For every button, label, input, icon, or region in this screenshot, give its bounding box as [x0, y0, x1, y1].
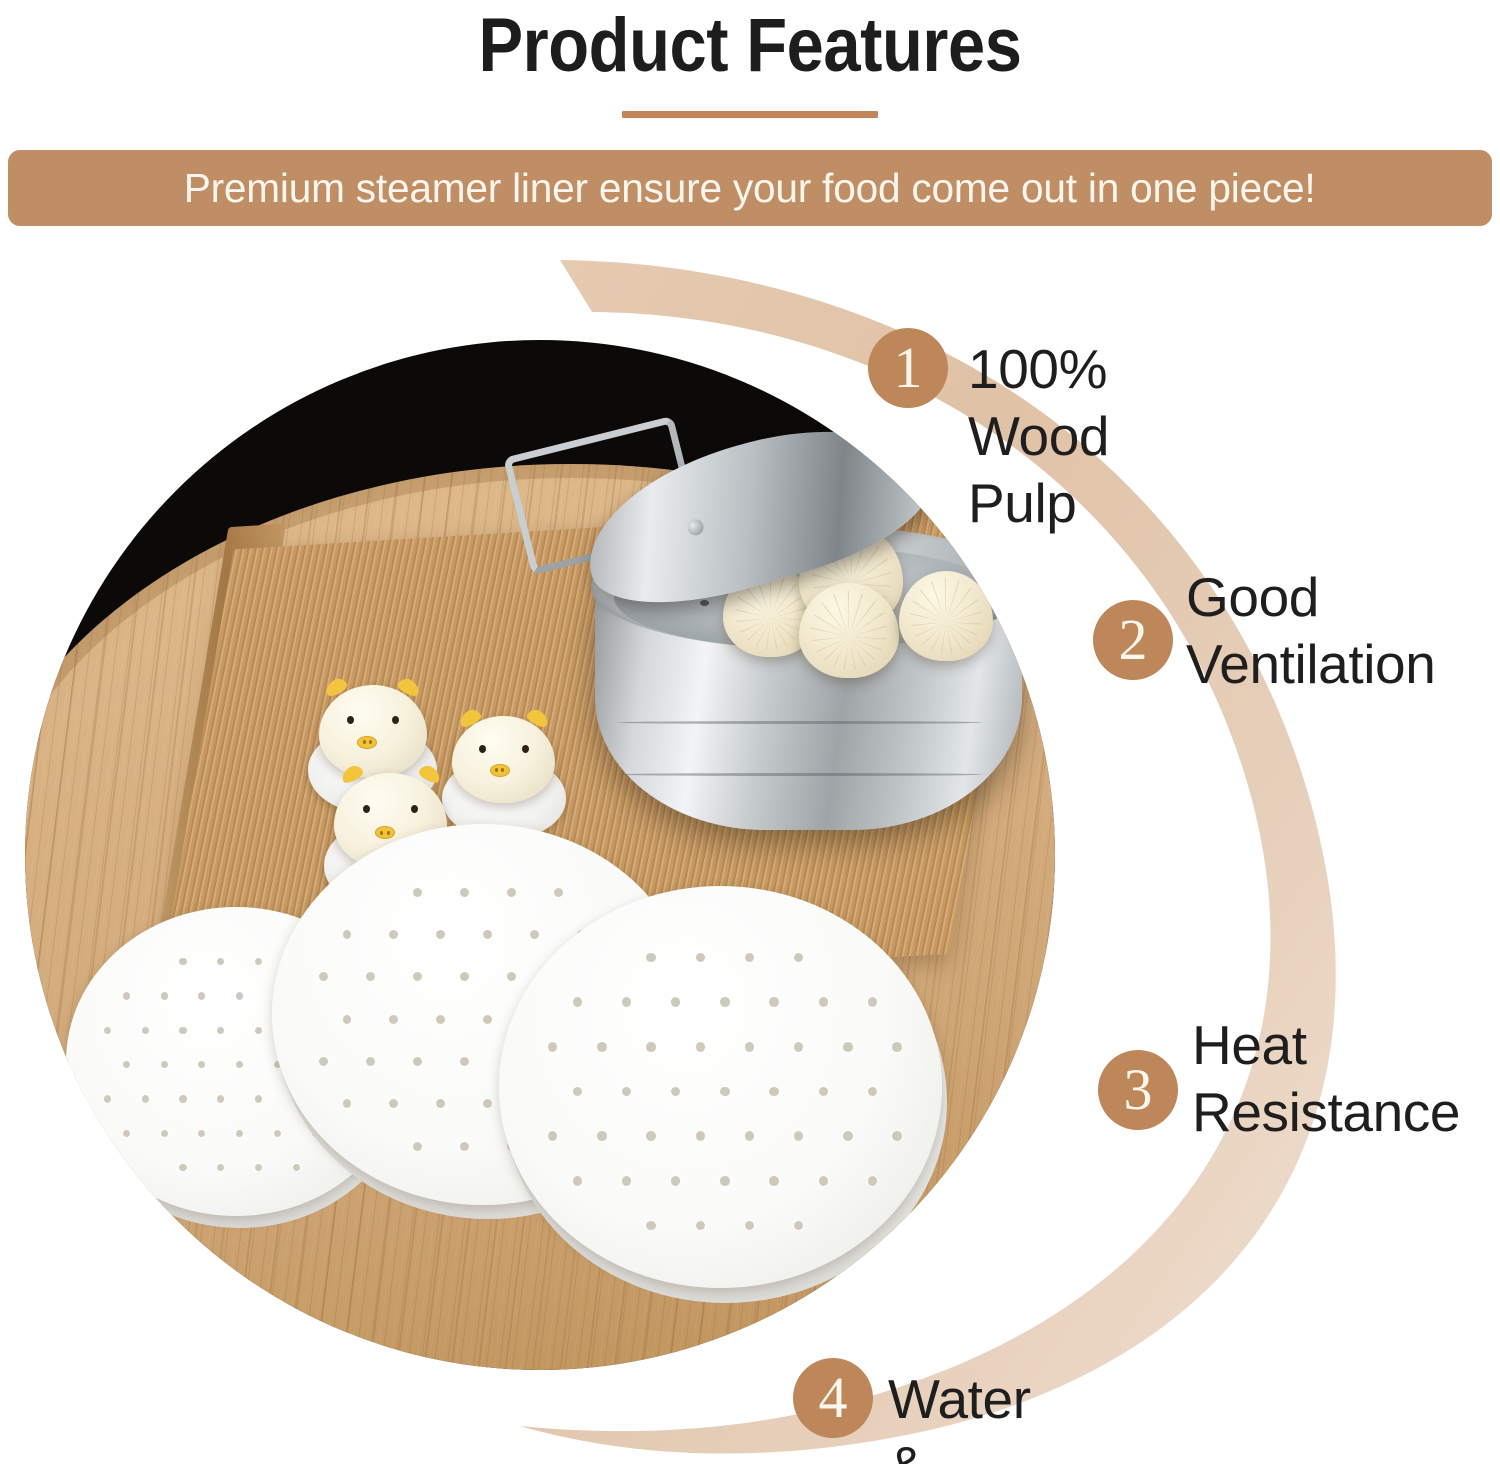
feature-label-2: Good Ventilation	[1186, 564, 1435, 698]
liner-perforation-hole	[319, 1057, 328, 1066]
liner-perforation-hole	[389, 1099, 398, 1108]
liner-perforation-hole	[720, 1087, 729, 1097]
liner-perforation-hole	[255, 1095, 262, 1102]
liner-perforation-hole	[217, 1095, 224, 1102]
liner-perforation-hole	[460, 888, 469, 897]
pig-nose	[357, 736, 377, 749]
liner-perforation-hole	[794, 953, 803, 963]
page-title: Product Features	[90, 2, 1410, 89]
liner-perforation-hole	[696, 1131, 705, 1141]
liner-perforation-hole	[236, 1061, 243, 1068]
liner-perforation-hole	[460, 1057, 469, 1066]
liner-perforation-hole	[671, 997, 680, 1007]
liner-perforation-hole	[573, 1176, 582, 1186]
liner-perforation-hole	[819, 997, 828, 1007]
liner-perforation-hole	[255, 1164, 262, 1171]
liner-perforation-hole	[794, 1221, 803, 1231]
feature-number-badge-3: 3	[1098, 1050, 1178, 1130]
liner-perforation-hole	[460, 1142, 469, 1151]
liner-perforation-hole	[573, 1087, 582, 1097]
pig-eye	[411, 805, 418, 813]
liner-perforation-hole	[161, 992, 168, 999]
pig-eye	[522, 745, 529, 753]
liner-perforation-hole	[843, 1131, 852, 1141]
liner-perforation-hole	[597, 1131, 606, 1141]
steamed-bun	[799, 583, 898, 678]
title-divider	[622, 111, 878, 118]
liner-perforation-hole	[436, 1015, 445, 1024]
liner-perforation-hole	[696, 1042, 705, 1052]
product-photo	[25, 340, 1055, 1370]
liner-perforation-hole	[198, 1130, 205, 1137]
liner-perforation-hole	[646, 1221, 655, 1231]
liner-perforation-hole	[483, 1099, 492, 1108]
liner-perforation-hole	[236, 1130, 243, 1137]
liner-perforation-hole	[720, 1176, 729, 1186]
liner-perforation-hole	[217, 958, 224, 965]
liner-perforation-hole	[104, 1027, 111, 1034]
pig-bun	[452, 716, 555, 804]
liner-perforation-hole	[413, 972, 422, 981]
pig-eye	[479, 745, 486, 753]
feature-label-4: Water & Grease Proof	[888, 1366, 1066, 1464]
liner-perforation-hole	[217, 1164, 224, 1171]
liner-perforation-hole	[255, 1027, 262, 1034]
liner-perforation-hole	[123, 992, 130, 999]
liner-perforation-hole	[179, 1164, 186, 1171]
liner-perforation-hole	[548, 1131, 557, 1141]
liner-perforation-hole	[413, 888, 422, 897]
liner-perforation-hole	[142, 1095, 149, 1102]
product-features-infographic: Product Features Premium steamer liner e…	[0, 0, 1500, 1464]
liner-perforation-hole	[142, 1027, 149, 1034]
pot-lid-knob	[686, 517, 706, 537]
liner-perforation-hole	[483, 1015, 492, 1024]
liner-perforation-hole	[892, 1042, 901, 1052]
liner-perforation-hole	[483, 930, 492, 939]
liner-perforation-hole	[794, 1042, 803, 1052]
liner-perforation-hole	[622, 997, 631, 1007]
feature-number-badge-2: 2	[1093, 600, 1173, 680]
liner-perforation-hole	[413, 1142, 422, 1151]
pig-bun	[319, 685, 427, 778]
liner-perforation-hole	[389, 1015, 398, 1024]
liner-perforation-hole	[104, 1095, 111, 1102]
liner-perforation-hole	[769, 997, 778, 1007]
subtitle-banner: Premium steamer liner ensure your food c…	[8, 150, 1492, 226]
liner-hole	[700, 600, 709, 606]
liner-perforation-hole	[179, 1027, 186, 1034]
liner-perforation-hole	[868, 1087, 877, 1097]
liner-perforation-hole	[745, 1221, 754, 1231]
pig-eye	[363, 805, 370, 813]
pig-eye	[347, 716, 354, 724]
liner-perforation-hole	[843, 1042, 852, 1052]
liner-perforation-hole	[436, 1099, 445, 1108]
liner-perforation-hole	[745, 953, 754, 963]
pig-eye	[392, 716, 399, 724]
liner-perforation-hole	[343, 1099, 352, 1108]
liner-perforation-hole	[622, 1176, 631, 1186]
liner-perforation-hole	[745, 1042, 754, 1052]
infographic-stage: 1 100% Wood Pulp 2 Good Ventilation 3 He…	[0, 240, 1500, 1464]
liner-perforation-hole	[868, 1176, 877, 1186]
liner-perforation-hole	[622, 1087, 631, 1097]
liner-perforation-hole	[646, 1042, 655, 1052]
liner-perforation-hole	[198, 1061, 205, 1068]
subtitle-banner-text: Premium steamer liner ensure your food c…	[184, 165, 1316, 212]
feature-label-1: 100% Wood Pulp	[968, 336, 1109, 537]
feature-number-badge-1: 1	[868, 328, 948, 408]
liner-perforation-hole	[548, 1042, 557, 1052]
liner-sheet-top	[499, 886, 942, 1288]
liner-perforation-hole	[745, 1131, 754, 1141]
pig-nose	[490, 764, 510, 777]
liner-perforation-hole	[769, 1087, 778, 1097]
liner-perforation-hole	[236, 992, 243, 999]
liner-perforation-hole	[123, 1061, 130, 1068]
liner-perforation-hole	[319, 972, 328, 981]
liner-perforation-hole	[868, 997, 877, 1007]
liner-perforation-hole	[436, 930, 445, 939]
liner-perforation-hole	[671, 1176, 680, 1186]
liner-perforation-hole	[892, 1131, 901, 1141]
liner-perforation-hole	[366, 1057, 375, 1066]
liner-perforation-hole	[123, 1130, 130, 1137]
liner-perforation-hole	[597, 1042, 606, 1052]
liner-perforation-hole	[573, 997, 582, 1007]
liner-perforation-hole	[819, 1087, 828, 1097]
liner-perforation-hole	[161, 1061, 168, 1068]
liner-perforation-hole	[671, 1087, 680, 1097]
liner-perforation-hole	[769, 1176, 778, 1186]
liner-perforation-hole	[819, 1176, 828, 1186]
pot-band	[617, 773, 984, 776]
liner-perforation-hole	[646, 953, 655, 963]
liner-perforation-hole	[366, 972, 375, 981]
liner-perforation-hole	[389, 930, 398, 939]
liner-perforation-hole	[720, 997, 729, 1007]
feature-label-3: Heat Resistance	[1192, 1012, 1460, 1146]
liner-perforation-hole	[255, 958, 262, 965]
liner-stack-right	[499, 886, 942, 1288]
liner-perforation-hole	[794, 1131, 803, 1141]
feature-number-badge-4: 4	[793, 1358, 873, 1438]
liner-perforation-hole	[343, 1015, 352, 1024]
liner-perforation-hole	[413, 1057, 422, 1066]
liner-perforation-hole	[198, 992, 205, 999]
pot-band	[617, 721, 984, 724]
liner-perforation-hole	[179, 958, 186, 965]
liner-perforation-hole	[343, 930, 352, 939]
liner-perforation-hole	[696, 953, 705, 963]
liner-perforation-hole	[217, 1027, 224, 1034]
liner-perforation-hole	[696, 1221, 705, 1231]
liner-perforation-hole	[460, 972, 469, 981]
liner-perforation-hole	[179, 1095, 186, 1102]
liner-perforation-hole	[646, 1131, 655, 1141]
liner-perforation-hole	[161, 1130, 168, 1137]
